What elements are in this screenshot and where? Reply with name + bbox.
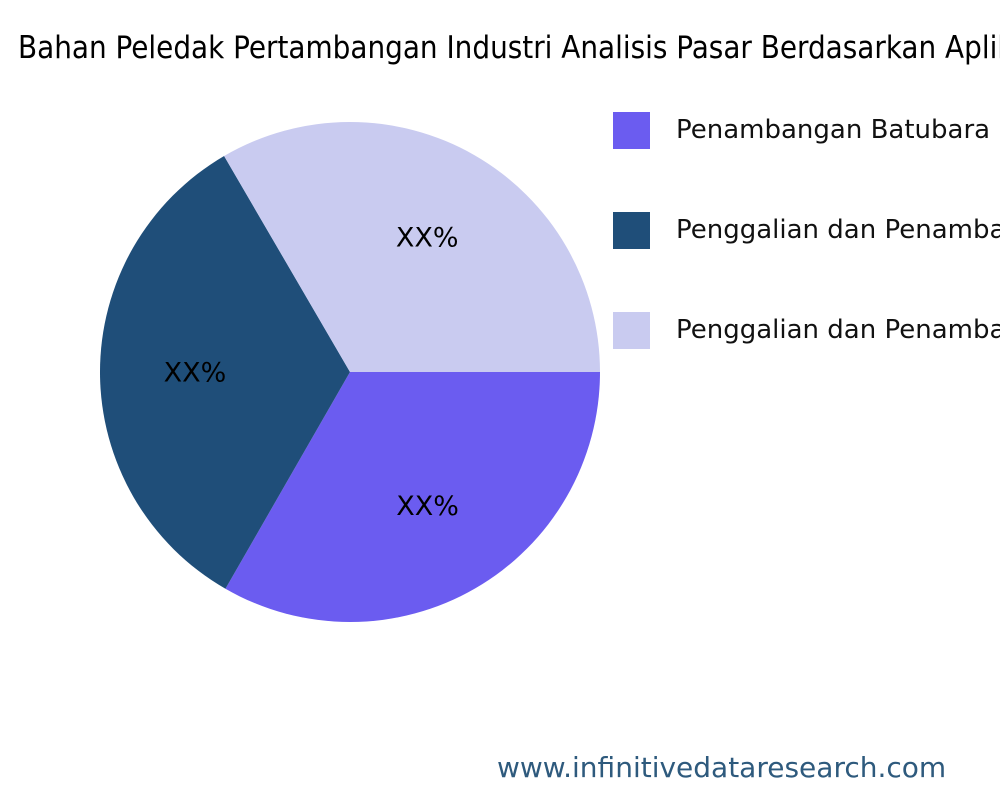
legend-label-penggalian-logam: Penggalian dan Penambangan Logam xyxy=(676,215,1000,245)
legend-swatch-penggalian-logam xyxy=(613,212,650,249)
pie-chart-figure: Bahan Peledak Pertambangan Industri Anal… xyxy=(0,0,1000,800)
legend-item-penggalian-logam[interactable]: Penggalian dan Penambangan Logam xyxy=(613,210,1000,250)
pie-slice-value-label: XX% xyxy=(396,223,459,254)
pie-slice-value-label: XX% xyxy=(396,491,459,522)
legend-label-penggalian-non-logam: Penggalian dan Penambangan Non-Logam xyxy=(676,315,1000,345)
legend-item-penambangan-batubara[interactable]: Penambangan Batubara xyxy=(613,110,990,150)
pie-slice-value-label: XX% xyxy=(164,358,227,389)
legend-swatch-penggalian-non-logam xyxy=(613,312,650,349)
legend-item-penggalian-non-logam[interactable]: Penggalian dan Penambangan Non-Logam xyxy=(613,310,1000,350)
footer-source-url[interactable]: www.infinitivedataresearch.com xyxy=(497,751,946,784)
legend-swatch-penambangan-batubara xyxy=(613,112,650,149)
legend-label-penambangan-batubara: Penambangan Batubara xyxy=(676,115,990,145)
